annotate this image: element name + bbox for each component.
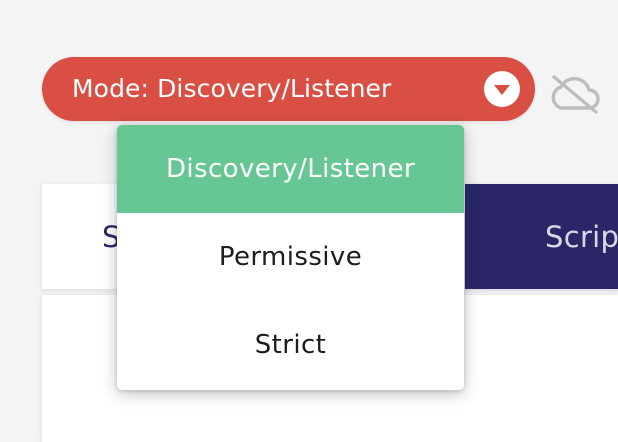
app-screen: Se Scrip N Osano Dev Mode: Discovery/Lis… (0, 0, 618, 442)
tab-inactive-label: Scrip (545, 220, 618, 254)
mode-option-label: Discovery/Listener (166, 154, 415, 184)
cloud-off-icon (545, 68, 605, 116)
tab-scripts[interactable]: Scrip (465, 184, 618, 289)
mode-option-label: Strict (255, 330, 327, 360)
mode-option-discovery-listener[interactable]: Discovery/Listener (117, 125, 464, 213)
mode-option-label: Permissive (219, 242, 362, 272)
mode-select-button[interactable]: Mode: Discovery/Listener (42, 57, 535, 121)
chevron-down-icon[interactable] (484, 71, 520, 107)
mode-select-label: Mode: Discovery/Listener (72, 75, 391, 103)
mode-option-strict[interactable]: Strict (117, 301, 464, 389)
mode-option-permissive[interactable]: Permissive (117, 213, 464, 301)
mode-dropdown-menu[interactable]: Discovery/Listener Permissive Strict (117, 125, 464, 390)
